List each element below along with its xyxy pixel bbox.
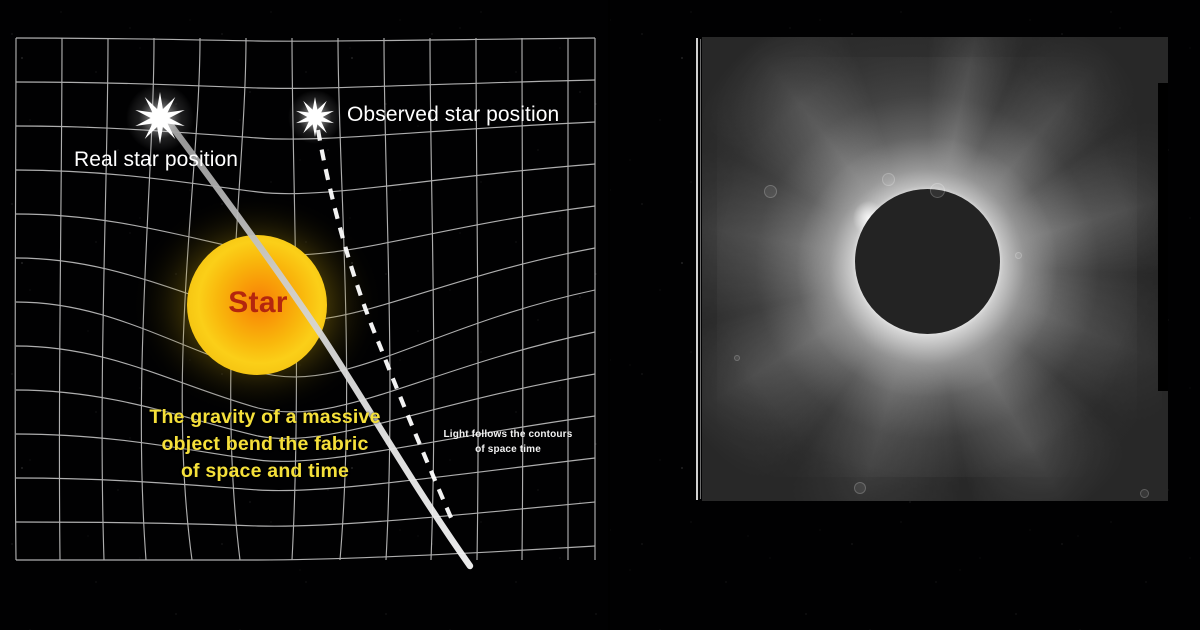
gravity-caption-line-3: of space and time: [120, 458, 410, 485]
solar-eclipse-photographic-plate: [696, 37, 1168, 501]
plate-defect-spot: [1140, 489, 1149, 498]
plate-edge-marking: [696, 38, 698, 500]
moon-disc: [855, 189, 1000, 334]
plate-defect-spot: [734, 355, 740, 361]
gravity-caption-line-1: The gravity of a massive: [120, 404, 410, 431]
spacetime-curvature-diagram: Real star position Observed star positio…: [0, 0, 608, 578]
gravity-caption-line-2: object bend the fabric: [120, 431, 410, 458]
plate-defect-spot: [930, 183, 945, 198]
plate-defect-spot: [764, 185, 777, 198]
contours-caption-line-2: of space time: [428, 443, 588, 458]
gravity-caption: The gravity of a massive object bend the…: [120, 404, 410, 485]
plate-defect-spot: [882, 173, 895, 186]
observed-star-burst-icon: [288, 90, 342, 144]
plate-corner-notch: [1158, 83, 1168, 391]
screenshot-stage: Real star position Observed star positio…: [0, 0, 1200, 630]
plate-emulsion-surface: [702, 37, 1168, 501]
plate-defect-spot: [854, 482, 866, 494]
star-body-label: Star: [190, 286, 326, 320]
real-star-burst-icon: [126, 84, 194, 152]
panel-divider: [608, 0, 610, 630]
plate-defect-spot: [1015, 252, 1022, 259]
contours-caption-line-1: Light follows the contours: [428, 428, 588, 443]
plate-edge-marking-inner: [700, 39, 701, 499]
contours-caption: Light follows the contours of space time: [428, 428, 588, 457]
